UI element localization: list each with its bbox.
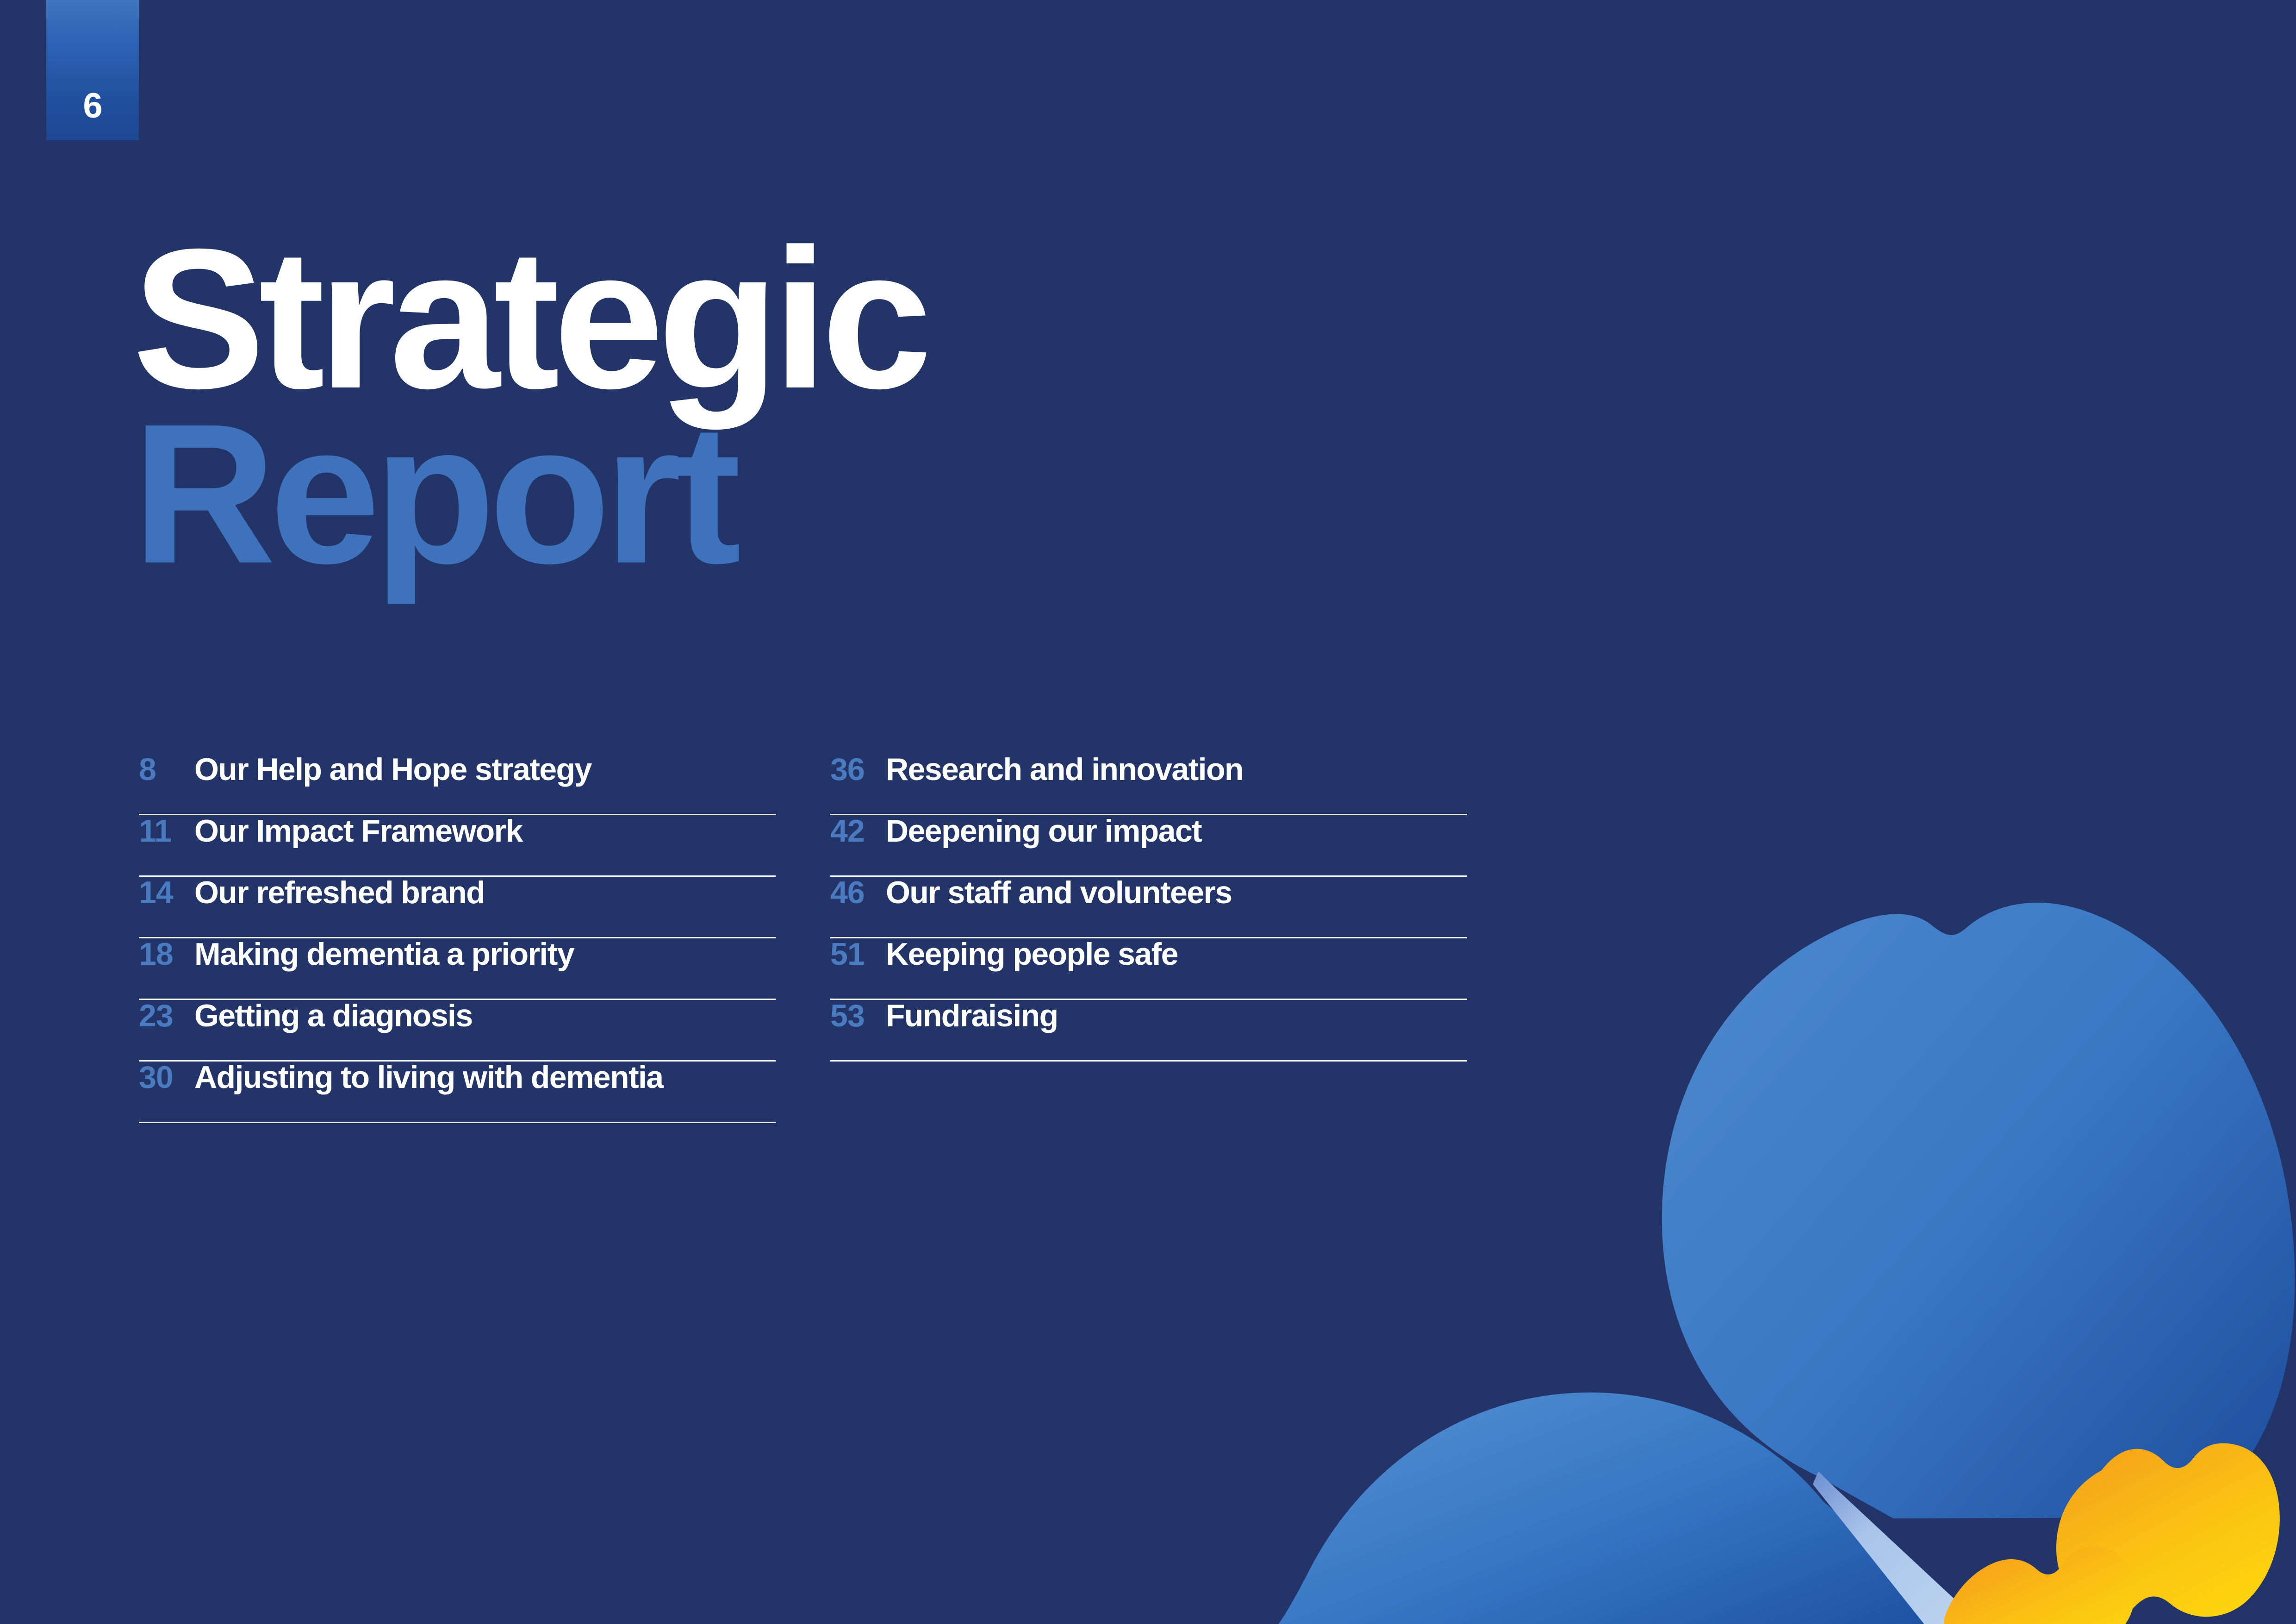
toc-entry-label: Getting a diagnosis xyxy=(194,1000,473,1031)
toc-entry-label: Deepening our impact xyxy=(886,815,1201,847)
toc-entry-label: Our refreshed brand xyxy=(194,877,485,908)
page-number: 6 xyxy=(83,88,102,124)
toc-entry[interactable]: 23 Getting a diagnosis xyxy=(139,1000,776,1062)
toc-entry[interactable]: 53 Fundraising xyxy=(830,1000,1467,1062)
toc-entry[interactable]: 42 Deepening our impact xyxy=(830,815,1467,877)
toc-entry-label: Making dementia a priority xyxy=(194,938,574,970)
toc-entry[interactable]: 18 Making dementia a priority xyxy=(139,938,776,1000)
toc-page-number: 23 xyxy=(139,1000,194,1031)
petal-blue-lower-helper xyxy=(1320,1412,1954,1624)
toc-page-number: 51 xyxy=(830,938,886,970)
title-line-report: Report xyxy=(132,406,926,581)
petal-orange-left xyxy=(1944,1546,2134,1624)
toc-page-number: 53 xyxy=(830,1000,886,1031)
title-line-strategic: Strategic xyxy=(132,231,926,406)
toc-page-number: 46 xyxy=(830,877,886,908)
toc-entry-label: Research and innovation xyxy=(886,754,1243,785)
toc-entry-label: Keeping people safe xyxy=(886,938,1178,970)
toc-entry[interactable]: 51 Keeping people safe xyxy=(830,938,1467,1000)
page-root: 6 Strategic Report 8 Our Help and Hope s… xyxy=(0,0,2296,1624)
toc-entry-label: Adjusting to living with dementia xyxy=(194,1062,663,1093)
toc-page-number: 8 xyxy=(139,754,194,785)
toc-entry[interactable]: 8 Our Help and Hope strategy xyxy=(139,754,776,815)
toc-page-number: 18 xyxy=(139,938,194,970)
petal-blue-lower xyxy=(1278,1393,1972,1624)
toc-column-right: 36 Research and innovation 42 Deepening … xyxy=(830,754,1467,1123)
toc-entry-label: Fundraising xyxy=(886,1000,1058,1031)
toc-entry[interactable]: 36 Research and innovation xyxy=(830,754,1467,815)
toc-entry-label: Our Impact Framework xyxy=(194,815,523,847)
toc-page-number: 42 xyxy=(830,815,886,847)
petal-light-sliver xyxy=(1813,1471,1982,1624)
petal-orange-right xyxy=(2056,1443,2280,1617)
toc-column-left: 8 Our Help and Hope strategy 11 Our Impa… xyxy=(139,754,776,1123)
toc-page-number: 36 xyxy=(830,754,886,785)
toc-entry-label: Our staff and volunteers xyxy=(886,877,1232,908)
toc-entry[interactable]: 14 Our refreshed brand xyxy=(139,877,776,938)
toc-entry[interactable]: 30 Adjusting to living with dementia xyxy=(139,1062,776,1123)
toc-page-number: 14 xyxy=(139,877,194,908)
toc-entry[interactable]: 11 Our Impact Framework xyxy=(139,815,776,877)
toc-page-number: 30 xyxy=(139,1062,194,1093)
toc-entry[interactable]: 46 Our staff and volunteers xyxy=(830,877,1467,938)
page-number-tab: 6 xyxy=(46,0,139,140)
toc-entry-label: Our Help and Hope strategy xyxy=(194,754,591,785)
table-of-contents: 8 Our Help and Hope strategy 11 Our Impa… xyxy=(139,754,1481,1123)
toc-page-number: 11 xyxy=(139,815,194,847)
petal-blue-upper xyxy=(1662,903,2295,1518)
page-title: Strategic Report xyxy=(132,231,926,582)
